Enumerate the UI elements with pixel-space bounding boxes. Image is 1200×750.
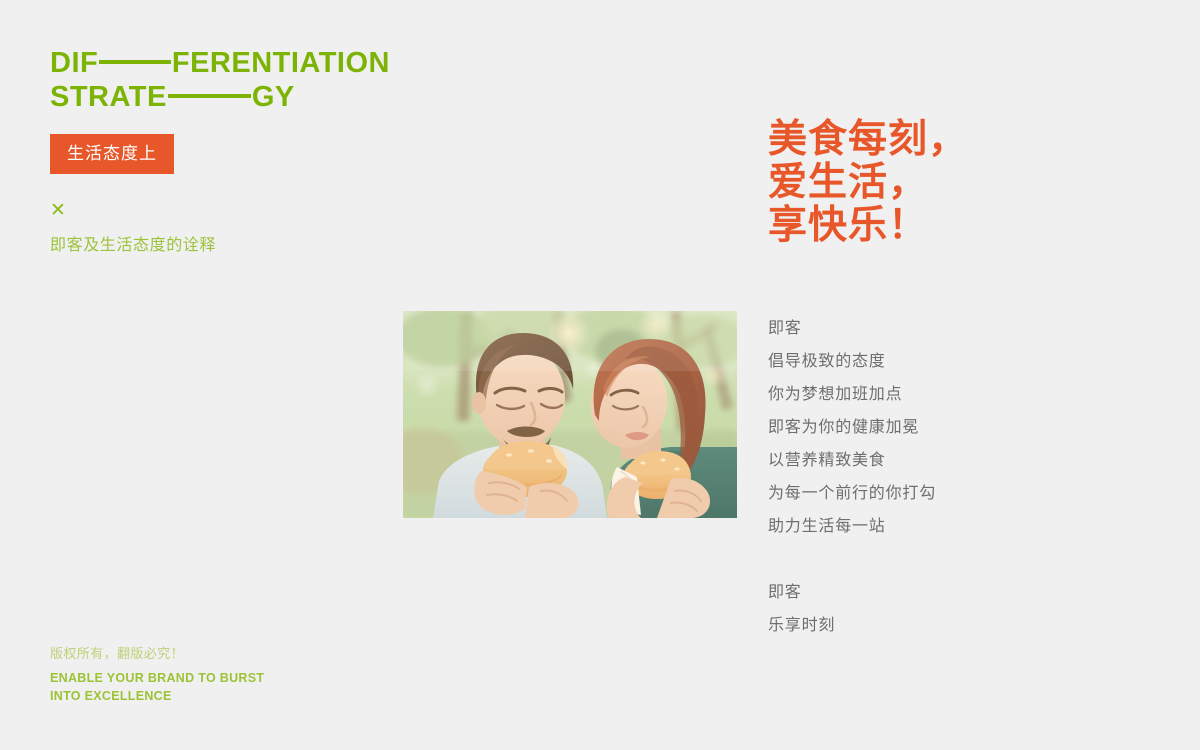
footer: 版权所有，翻版必究！ ENABLE YOUR BRAND TO BURST IN… xyxy=(50,645,380,705)
body-line: 你为梦想加班加点 xyxy=(768,378,1168,411)
footer-tagline-line-1: ENABLE YOUR BRAND TO BURST xyxy=(50,669,380,687)
footer-tagline-line-2: INTO EXCELLENCE xyxy=(50,687,380,705)
brand-headline-gy: GY xyxy=(252,80,295,114)
couple-eating-burgers-illustration xyxy=(403,311,737,518)
brand-headline-dif: DIF xyxy=(50,46,98,80)
brand-headline-english: DIF FERENTIATION STRATE GY xyxy=(50,46,390,114)
slogan-line-1: 美食每刻， xyxy=(768,118,1168,161)
body-line-second: 即客 xyxy=(768,576,1168,609)
body-line: 倡导极致的态度 xyxy=(768,345,1168,378)
body-line: 即客 xyxy=(768,312,1168,345)
sub-caption: 即客及生活态度的诠释 xyxy=(50,236,390,255)
brand-headline-line-1: DIF FERENTIATION xyxy=(50,46,390,80)
brand-headline-strate: STRATE xyxy=(50,80,167,114)
hero-photo xyxy=(403,311,737,518)
life-attitude-tag-button[interactable]: 生活态度上 xyxy=(50,134,174,174)
body-spacer xyxy=(768,543,1168,576)
body-line: 以营养精致美食 xyxy=(768,444,1168,477)
body-copy: 即客 倡导极致的态度 你为梦想加班加点 即客为你的健康加冕 以营养精致美食 为每… xyxy=(768,312,1168,642)
body-line-second: 乐享时刻 xyxy=(768,609,1168,642)
slogan-headline: 美食每刻， 爱生活， 享快乐！ xyxy=(768,118,1168,247)
left-column: DIF FERENTIATION STRATE GY 生活态度上 ✕ 即客及生活… xyxy=(50,46,390,255)
brand-headline-line-2: STRATE GY xyxy=(50,80,390,114)
headline-dash-1 xyxy=(99,60,171,64)
slogan-line-2: 爱生活， xyxy=(768,161,1168,204)
brand-headline-ferentiation: FERENTIATION xyxy=(172,46,390,80)
footer-tagline: ENABLE YOUR BRAND TO BURST INTO EXCELLEN… xyxy=(50,669,380,705)
right-column: 美食每刻， 爱生活， 享快乐！ xyxy=(768,118,1168,247)
headline-dash-2 xyxy=(168,94,251,98)
body-line: 即客为你的健康加冕 xyxy=(768,411,1168,444)
cross-icon: ✕ xyxy=(50,201,390,220)
copyright-notice: 版权所有，翻版必究！ xyxy=(50,645,380,663)
slogan-line-3: 享快乐！ xyxy=(768,204,1168,247)
body-line: 助力生活每一站 xyxy=(768,510,1168,543)
body-line: 为每一个前行的你打勾 xyxy=(768,477,1168,510)
